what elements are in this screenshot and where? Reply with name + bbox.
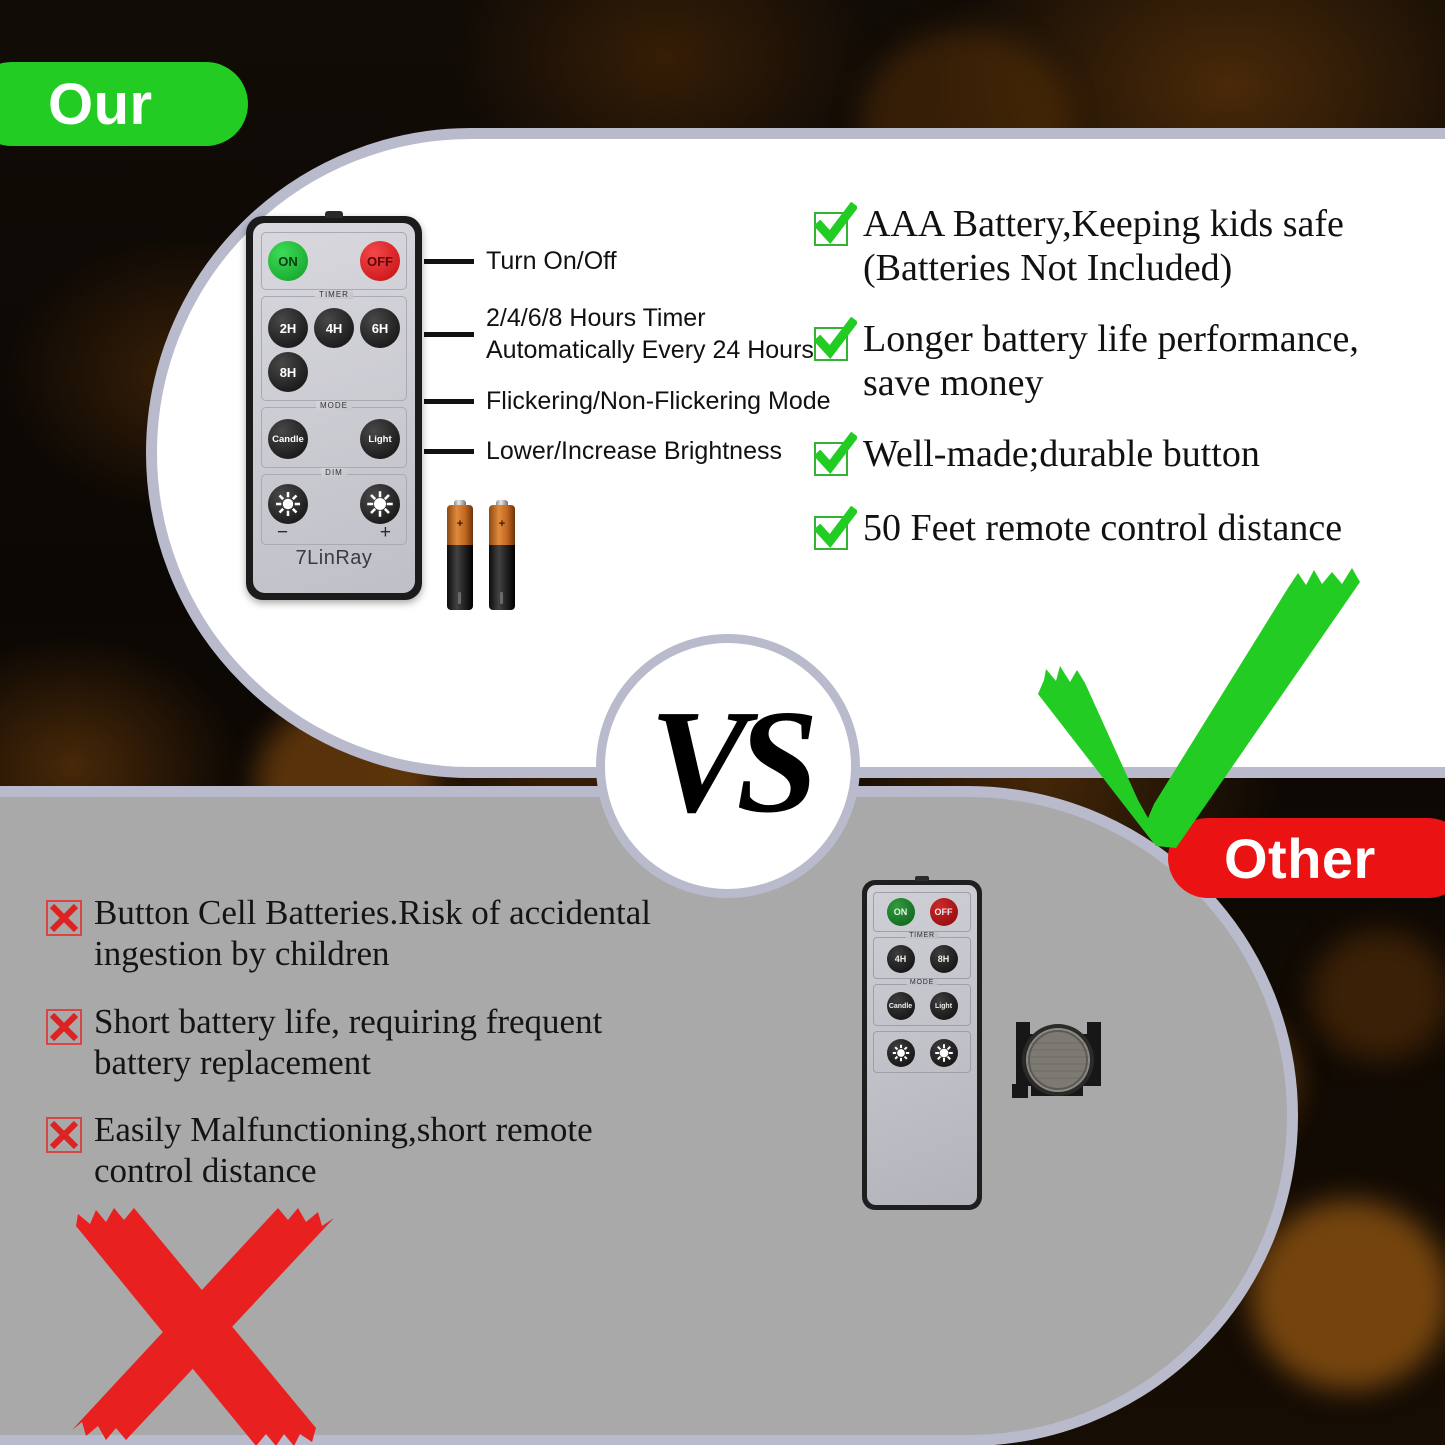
- timer-button-group: TIMER 4H 8H: [873, 937, 971, 979]
- dim-button-group: [873, 1031, 971, 1073]
- list-item: 50 Feet remote control distance: [812, 506, 1432, 554]
- dim-down-button[interactable]: [268, 484, 308, 524]
- dim-button-group: DIM − +: [261, 474, 407, 545]
- con-text: Short battery life, requiring frequent b…: [94, 1001, 602, 1084]
- pro-text: Well-made;durable button: [863, 432, 1260, 476]
- our-badge: Our: [0, 62, 248, 146]
- candle-mode-button[interactable]: Candle: [268, 419, 308, 459]
- con-text: Button Cell Batteries.Risk of accidental…: [94, 892, 651, 975]
- bokeh-dot: [1310, 930, 1445, 1060]
- battery-plus-icon: +: [447, 518, 473, 530]
- big-green-check-icon: [1030, 548, 1360, 848]
- on-button[interactable]: ON: [887, 898, 915, 926]
- off-button[interactable]: OFF: [360, 241, 400, 281]
- dim-plus-label: +: [380, 524, 391, 541]
- list-item: AAA Battery,Keeping kids safe (Batteries…: [812, 202, 1432, 291]
- bokeh-dot: [1250, 1200, 1445, 1390]
- list-item: Short battery life, requiring frequent b…: [46, 1001, 786, 1084]
- leader-line: [424, 259, 474, 264]
- timer-group-label: TIMER: [315, 290, 353, 299]
- cross-icon: [46, 1009, 82, 1045]
- dim-up-button[interactable]: [930, 1039, 958, 1067]
- list-item: Easily Malfunctioning,short remote contr…: [46, 1109, 786, 1192]
- timer-group-label: TIMER: [906, 932, 938, 939]
- dim-sign-row: − +: [268, 524, 400, 541]
- pro-text: Longer battery life performance, save mo…: [863, 317, 1359, 406]
- battery-marking: [458, 592, 461, 604]
- mode-group-label: MODE: [316, 401, 352, 410]
- dim-buttons-row: [268, 484, 400, 524]
- vs-badge: VS: [596, 634, 860, 898]
- check-icon: [812, 325, 852, 365]
- dim-group-label: DIM: [321, 468, 347, 477]
- coin-cell-battery-holder: [1006, 1008, 1111, 1116]
- our-remote-control: ON OFF TIMER 2H 4H 6H 8H MODE Candle Lig…: [246, 216, 422, 600]
- timer-4h-button[interactable]: 4H: [887, 945, 915, 973]
- battery-marking: [500, 592, 503, 604]
- dim-minus-label: −: [277, 524, 288, 541]
- cons-list: Button Cell Batteries.Risk of accidental…: [46, 892, 786, 1218]
- dim-up-button[interactable]: [360, 484, 400, 524]
- remote-brand-label: 7LinRay: [246, 547, 422, 570]
- on-button[interactable]: ON: [268, 241, 308, 281]
- ir-emitter: [915, 876, 929, 881]
- remote-face: ON OFF TIMER 2H 4H 6H 8H MODE Candle Lig…: [253, 223, 415, 593]
- mode-group-label: MODE: [907, 979, 937, 986]
- list-item: Well-made;durable button: [812, 432, 1432, 480]
- battery-2: +: [489, 500, 515, 610]
- light-mode-button[interactable]: Light: [360, 419, 400, 459]
- aaa-batteries: + +: [447, 500, 537, 615]
- timer-4h-button[interactable]: 4H: [314, 308, 354, 348]
- leader-line: [424, 399, 474, 404]
- callout-label: 2/4/6/8 Hours Timer Automatically Every …: [486, 303, 814, 366]
- cross-icon: [46, 1117, 82, 1153]
- check-icon: [812, 514, 852, 554]
- candle-mode-button[interactable]: Candle: [887, 992, 915, 1020]
- battery-plus-icon: +: [489, 518, 515, 530]
- remote-face: ON OFF TIMER 4H 8H MODE Candle Light: [867, 885, 977, 1205]
- battery-1: +: [447, 500, 473, 610]
- timer-8h-button[interactable]: 8H: [268, 352, 308, 392]
- callout-label: Flickering/Non-Flickering Mode: [486, 386, 831, 418]
- ir-emitter: [325, 211, 343, 218]
- power-button-group: ON OFF: [873, 892, 971, 932]
- timer-2h-button[interactable]: 2H: [268, 308, 308, 348]
- timer-8h-button[interactable]: 8H: [930, 945, 958, 973]
- check-icon: [812, 440, 852, 480]
- check-icon: [812, 210, 852, 250]
- competitor-remote-control: ON OFF TIMER 4H 8H MODE Candle Light: [862, 880, 982, 1210]
- big-red-cross-icon: [66, 1190, 346, 1445]
- callout-dim: Lower/Increase Brightness: [424, 436, 782, 468]
- timer-button-group: TIMER 2H 4H 6H 8H: [261, 296, 407, 401]
- cross-icon: [46, 900, 82, 936]
- callout-mode: Flickering/Non-Flickering Mode: [424, 386, 831, 418]
- callout-label: Lower/Increase Brightness: [486, 436, 782, 468]
- pros-list: AAA Battery,Keeping kids safe (Batteries…: [812, 202, 1432, 580]
- leader-line: [424, 332, 474, 337]
- timer-6h-button[interactable]: 6H: [360, 308, 400, 348]
- vs-label: VS: [649, 688, 806, 836]
- pro-text: AAA Battery,Keeping kids safe (Batteries…: [863, 202, 1344, 291]
- list-item: Button Cell Batteries.Risk of accidental…: [46, 892, 786, 975]
- our-badge-label: Our: [48, 71, 153, 138]
- infographic-canvas: Our Other ON OFF TIMER 2H 4H 6H 8H MODE …: [0, 0, 1445, 1445]
- callout-timer: 2/4/6/8 Hours Timer Automatically Every …: [424, 303, 814, 366]
- light-mode-button[interactable]: Light: [930, 992, 958, 1020]
- power-button-group: ON OFF: [261, 232, 407, 290]
- con-text: Easily Malfunctioning,short remote contr…: [94, 1109, 593, 1192]
- callout-power: Turn On/Off: [424, 246, 617, 278]
- dim-down-button[interactable]: [887, 1039, 915, 1067]
- pro-text: 50 Feet remote control distance: [863, 506, 1342, 550]
- off-button[interactable]: OFF: [930, 898, 958, 926]
- callout-label: Turn On/Off: [486, 246, 617, 278]
- list-item: Longer battery life performance, save mo…: [812, 317, 1432, 406]
- leader-line: [424, 449, 474, 454]
- mode-button-group: MODE Candle Light: [873, 984, 971, 1026]
- mode-button-group: MODE Candle Light: [261, 407, 407, 468]
